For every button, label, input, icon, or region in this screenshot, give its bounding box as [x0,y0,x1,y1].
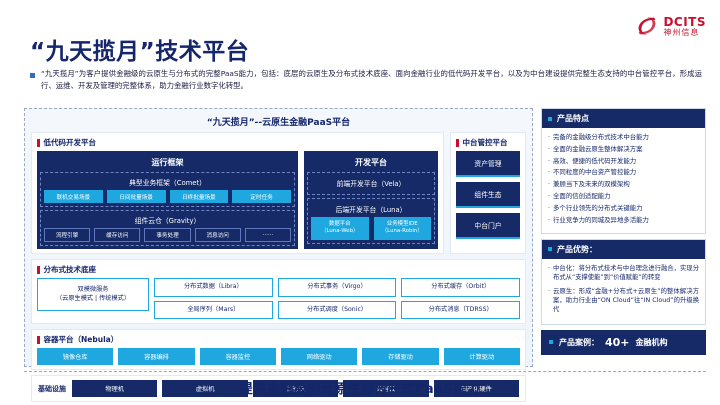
mgmt-item[interactable]: 组件生态 [456,182,520,208]
gravity-chip-list: 流程引擎 缓存访问 事务处理 消息访问 …… [44,228,291,242]
dual-mode-microservice-cell[interactable]: 双模微服务 （云原生模式 | 传统模式） [37,278,149,311]
frontend-platform-label[interactable]: 前端开发平台（Vela） [311,176,431,191]
base-cell[interactable]: 分布式缓存（Orbit） [401,278,520,297]
backend-platform-group: 后端开发平台（Luna） 数据平台 （Luna-Web） 业务模型IDE （Lu… [307,198,435,244]
runtime-framework-box: 运行框架 典型业务框架（Comet） 联机交易场景 日间批量场景 日终批量场景 … [37,151,298,249]
base-column-3: 分布式缓存（Orbit） 分布式消息（TDRSS） [401,278,520,319]
mgmt-item[interactable]: 中台门户 [456,213,520,239]
footer-caption: 提供金融级的云原生与分布式PaaS能力 [0,378,720,397]
container-platform-section: 容器平台（Nebula） 镜像仓库 容器编排 容器监控 网络驱动 存储驱动 计算… [31,329,526,370]
section-accent-bar-icon [37,336,40,344]
advantage-text: 中台化：将分布式技术与中台理念进行融合，实现分布式从“支撑使能”到“价值赋能”的… [553,264,699,283]
frontend-platform-group: 前端开发平台（Vela） [307,172,435,195]
development-platform-title: 开发平台 [307,154,435,172]
comet-chip[interactable]: 日终批量场景 [170,190,229,203]
dot-bullet-icon: · [548,204,550,213]
base-column-1: 分布式数据（Libra） 全局序列（Mars） [154,278,273,319]
gravity-chip[interactable]: 消息访问 [195,228,241,242]
advantage-item: ·中台化：将分布式技术与中台理念进行融合，实现分布式从“支撑使能”到“价值赋能”… [548,264,699,283]
feature-item: ·高效、便捷的低代码开发能力 [548,157,699,166]
backend-chip[interactable]: 数据平台 （Luna-Web） [311,217,369,240]
comet-group: 典型业务框架（Comet） 联机交易场景 日间批量场景 日终批量场景 定时任务 [40,172,295,207]
dot-bullet-icon: · [548,287,550,315]
base-column-2: 分布式事务（Virgo） 分布式调度（Sonic） [278,278,397,319]
section-accent-bar-icon [37,266,40,274]
gravity-chip[interactable]: 事务处理 [144,228,190,242]
midplatform-control-section: 中台管控平台 资产管理 组件生态 中台门户 [450,132,526,254]
backend-chip[interactable]: 业务模型IDE （Luna-Robin） [374,217,432,240]
dot-bullet-icon: · [548,264,550,283]
cases-label: 产品案例： [559,337,599,348]
advantages-panel-header: 产品优势： [542,240,705,259]
base-grid: 双模微服务 （云原生模式 | 传统模式） 分布式数据（Libra） 全局序列（M… [37,278,520,319]
dot-bullet-icon: · [548,192,550,201]
product-features-panel: 产品特点 ·完备的金融级分布式技术中台能力 ·全面的金融云原生整体解决方案 ·高… [541,108,706,234]
gravity-chip[interactable]: 流程引擎 [44,228,90,242]
container-section-title: 容器平台（Nebula） [44,334,119,345]
gravity-title: 组件云仓（Gravity） [44,214,291,228]
base-section-header: 分布式技术底座 [37,264,520,275]
architecture-diagram: “九天揽月”--云原生金融PaaS平台 低代码开发平台 运行框架 典型业务框架（… [24,108,533,367]
comet-chip-list: 联机交易场景 日间批量场景 日终批量场景 定时任务 [44,190,291,203]
feature-text: 完备的金融级分布式技术中台能力 [553,133,649,142]
feature-text: 不同粒度的中台资产管控能力 [553,168,636,177]
container-chip[interactable]: 计算驱动 [444,348,520,365]
square-bullet-icon [30,73,35,78]
gravity-chip[interactable]: …… [245,228,291,242]
product-advantages-panel: 产品优势： ·中台化：将分布式技术与中台理念进行融合，实现分布式从“支撑使能”到… [541,239,706,325]
base-cell[interactable]: 分布式消息（TDRSS） [401,301,520,320]
mgmt-section-title: 中台管控平台 [463,137,508,148]
features-list: ·完备的金融级分布式技术中台能力 ·全面的金融云原生整体解决方案 ·高效、便捷的… [542,128,705,233]
diagram-top-row: 低代码开发平台 运行框架 典型业务框架（Comet） 联机交易场景 日间批量场景… [31,132,526,254]
lowcode-platform-section: 低代码开发平台 运行框架 典型业务框架（Comet） 联机交易场景 日间批量场景… [31,132,444,254]
dot-bullet-icon: · [548,133,550,142]
feature-text: 高效、便捷的低代码开发能力 [553,157,636,166]
logo-en-text: DCITS [663,16,706,28]
comet-chip[interactable]: 定时任务 [232,190,291,203]
container-chip[interactable]: 镜像仓库 [37,348,113,365]
dot-bullet-icon: · [548,216,550,225]
base-section-title: 分布式技术底座 [44,264,97,275]
development-platform-box: 开发平台 前端开发平台（Vela） 后端开发平台（Luna） 数据平台 （Lun… [304,151,438,249]
feature-item: ·全面的信创适配能力 [548,192,699,201]
backend-chip-list: 数据平台 （Luna-Web） 业务模型IDE （Luna-Robin） [311,217,431,240]
features-panel-title: 产品特点 [557,113,589,124]
section-accent-bar-icon [37,139,40,147]
dual-mode-cell-wrap: 双模微服务 （云原生模式 | 传统模式） [37,278,149,319]
content-stage: “九天揽月”--云原生金融PaaS平台 低代码开发平台 运行框架 典型业务框架（… [24,108,706,367]
feature-text: 兼顾当下及未来的双模架构 [553,180,630,189]
dot-bullet-icon: · [548,168,550,177]
advantage-text: 云原生：形成“金融+分布式+云原生”的整体解决方案，助力行业由“ON Cloud… [553,287,699,315]
dot-bullet-icon: · [548,145,550,154]
feature-text: 多个行业领先的分布式关键能力 [553,204,642,213]
container-chip[interactable]: 容器监控 [200,348,276,365]
feature-item: ·全面的金融云原生整体解决方案 [548,145,699,154]
base-cell[interactable]: 分布式数据（Libra） [154,278,273,297]
base-cell[interactable]: 全局序列（Mars） [154,301,273,320]
dot-bullet-icon: · [548,180,550,189]
backend-platform-label: 后端开发平台（Luna） [311,202,431,217]
comet-chip[interactable]: 联机交易场景 [44,190,103,203]
footer-divider [24,371,706,372]
advantages-panel-title: 产品优势： [557,244,597,255]
cases-number: 40+ [605,336,630,349]
dot-bullet-icon: · [548,157,550,166]
square-bullet-icon [549,340,553,344]
advantage-item: ·云原生：形成“金融+分布式+云原生”的整体解决方案，助力行业由“ON Clou… [548,287,699,315]
container-chip-list: 镜像仓库 容器编排 容器监控 网络驱动 存储驱动 计算驱动 [37,348,520,365]
base-cell[interactable]: 分布式事务（Virgo） [278,278,397,297]
feature-item: ·行业竞争力的同城及异地多活能力 [548,216,699,225]
features-panel-header: 产品特点 [542,109,705,128]
square-bullet-icon [548,247,552,251]
diagram-title: “九天揽月”--云原生金融PaaS平台 [31,113,526,132]
container-chip[interactable]: 容器编排 [118,348,194,365]
cases-suffix: 金融机构 [636,337,668,348]
runtime-framework-title: 运行框架 [40,154,295,172]
feature-text: 行业竞争力的同城及异地多活能力 [553,216,649,225]
feature-item: ·完备的金融级分布式技术中台能力 [548,133,699,142]
base-cell[interactable]: 分布式调度（Sonic） [278,301,397,320]
lowcode-section-title: 低代码开发平台 [44,137,97,148]
product-cases-panel: 产品案例： 40+ 金融机构 [541,330,706,355]
side-column: 产品特点 ·完备的金融级分布式技术中台能力 ·全面的金融云原生整体解决方案 ·高… [541,108,706,367]
mgmt-section-header: 中台管控平台 [456,137,520,148]
page-title: “九天揽月”技术平台 [30,32,249,66]
feature-item: ·多个行业领先的分布式关键能力 [548,204,699,213]
comet-chip[interactable]: 日间批量场景 [107,190,166,203]
logo-cn-text: 神州信息 [663,29,706,37]
gravity-group: 组件云仓（Gravity） 流程引擎 缓存访问 事务处理 消息访问 …… [40,210,295,246]
intro-text: “九天揽月”为客户提供金融级的云原生与分布式的完整PaaS能力，包括：底层的云原… [41,68,702,92]
swirl-logo-icon [635,14,659,38]
mgmt-item-list: 资产管理 组件生态 中台门户 [456,151,520,239]
square-bullet-icon [548,117,552,121]
brand-logo: DCITS 神州信息 [635,14,706,38]
comet-title: 典型业务框架（Comet） [44,176,291,190]
mgmt-item[interactable]: 资产管理 [456,151,520,177]
feature-item: ·不同粒度的中台资产管控能力 [548,168,699,177]
feature-text: 全面的信创适配能力 [553,192,611,201]
container-section-header: 容器平台（Nebula） [37,334,520,345]
container-chip[interactable]: 网络驱动 [281,348,357,365]
container-chip[interactable]: 存储驱动 [362,348,438,365]
distributed-base-section: 分布式技术底座 双模微服务 （云原生模式 | 传统模式） 分布式数据（Libra… [31,259,526,324]
advantages-list: ·中台化：将分布式技术与中台理念进行融合，实现分布式从“支撑使能”到“价值赋能”… [542,259,705,324]
feature-text: 全面的金融云原生整体解决方案 [553,145,642,154]
gravity-chip[interactable]: 缓存访问 [94,228,140,242]
section-accent-bar-icon [456,139,459,147]
feature-item: ·兼顾当下及未来的双模架构 [548,180,699,189]
lowcode-section-header: 低代码开发平台 [37,137,438,148]
intro-paragraph: “九天揽月”为客户提供金融级的云原生与分布式的完整PaaS能力，包括：底层的云原… [30,68,702,92]
